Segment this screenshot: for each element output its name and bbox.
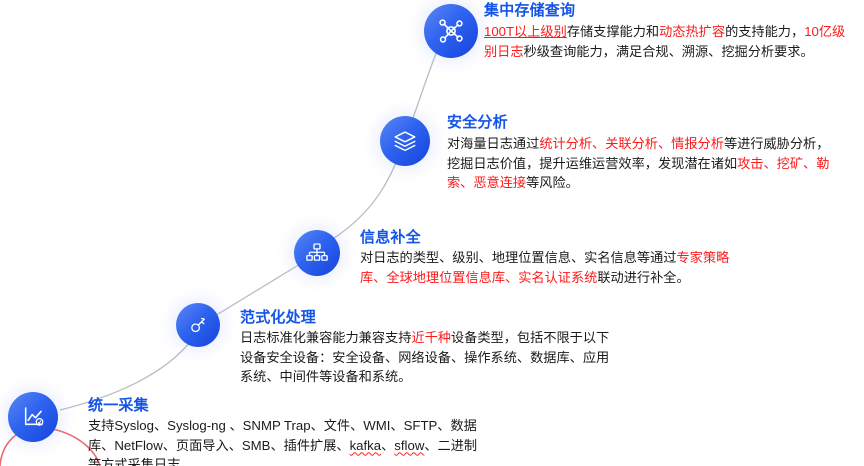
text-segment: 、 [381,438,394,453]
step-block-normalization: 范式化处理 日志标准化兼容能力兼容支持近千种设备类型，包括不限于以下设备安全设备… [240,308,618,387]
icon-line-chart [8,392,58,442]
step-body-security-analysis: 对海量日志通过统计分析、关联分析、情报分析等进行威胁分析，挖掘日志价值，提升运维… [447,134,841,193]
text-segment: 日志标准化兼容能力兼容支持 [240,330,411,345]
step-block-enrichment: 信息补全 对日志的类型、级别、地理位置信息、实名信息等通过专家策略库、全球地理位… [360,228,750,287]
step-body-normalization: 日志标准化兼容能力兼容支持近千种设备类型，包括不限于以下设备安全设备：安全设备、… [240,328,618,387]
text-segment: 的支持能力， [725,24,804,39]
text-segment: 存储支撑能力和 [567,24,659,39]
icon-key [176,303,220,347]
text-segment: 统计分析、关联分析、情报分析 [539,136,724,151]
step-title-security-analysis: 安全分析 [447,113,841,132]
text-segment: 秒级查询能力，满足合规、溯源、挖掘分析要求。 [524,44,814,59]
capability-flow-diagram: 集中存储查询 100T以上级别存储支撑能力和动态热扩容的支持能力，10亿级别日志… [0,0,864,466]
step-body-central-storage: 100T以上级别存储支撑能力和动态热扩容的支持能力，10亿级别日志秒级查询能力，… [484,22,856,61]
step-body-collection: 支持Syslog、Syslog-ng 、SNMP Trap、文件、WMI、SFT… [88,416,488,466]
text-segment: 联动进行补全。 [597,270,689,285]
text-segment: 等风险。 [526,175,579,190]
icon-layers [380,116,430,166]
text-segment: 动态热扩容 [659,24,725,39]
text-segment: 100T以上级别 [484,24,567,39]
step-title-enrichment: 信息补全 [360,228,750,247]
text-segment: sflow [394,438,424,453]
step-block-collection: 统一采集 支持Syslog、Syslog-ng 、SNMP Trap、文件、WM… [88,396,488,466]
icon-network-nodes [424,4,478,58]
text-segment: 支持Syslog、Syslog-ng 、SNMP Trap、文件、WMI、 [88,418,404,433]
step-block-security-analysis: 安全分析 对海量日志通过统计分析、关联分析、情报分析等进行威胁分析，挖掘日志价值… [447,113,841,193]
step-body-enrichment: 对日志的类型、级别、地理位置信息、实名信息等通过专家策略库、全球地理位置信息库、… [360,248,750,287]
step-title-collection: 统一采集 [88,396,488,415]
step-block-central-storage: 集中存储查询 100T以上级别存储支撑能力和动态热扩容的支持能力，10亿级别日志… [484,1,856,61]
text-segment: 对海量日志通过 [447,136,539,151]
text-segment: kafka [350,438,382,453]
text-segment: 对日志的类型、级别、地理位置信息、实名信息等通过 [360,250,677,265]
icon-hierarchy [294,230,340,276]
step-title-normalization: 范式化处理 [240,308,618,327]
step-title-central-storage: 集中存储查询 [484,1,856,20]
text-segment: 近千种 [411,330,451,345]
